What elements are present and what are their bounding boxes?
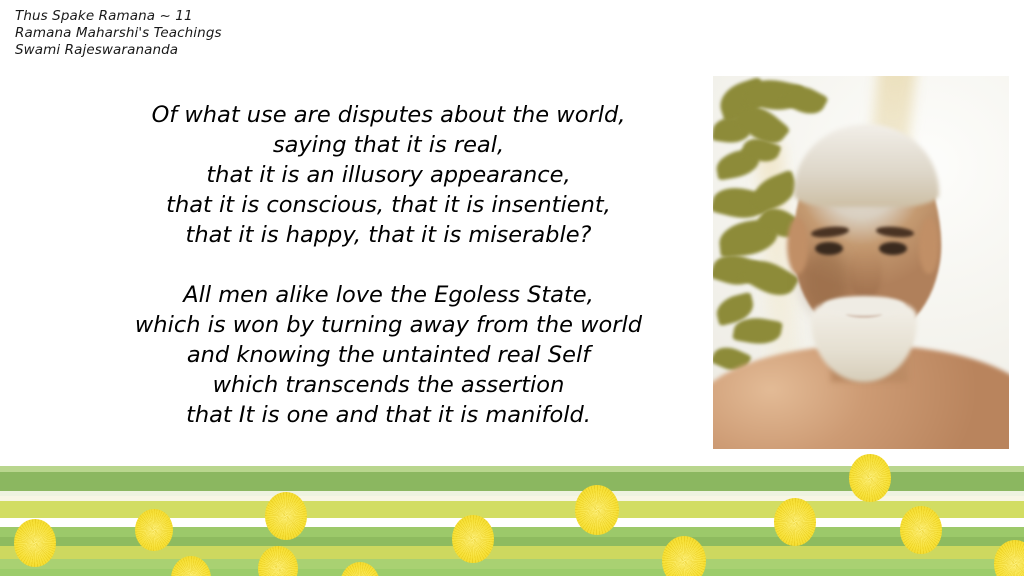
header-line-source: Ramana Maharshi's Teachings [15, 25, 222, 42]
band-flower-disc [774, 498, 816, 545]
band-flower-disc [135, 509, 173, 552]
band-flower-disc [849, 454, 891, 501]
photo-ear-right [919, 218, 940, 274]
quote-block: Of what use are disputes about the world… [96, 100, 681, 430]
band-flower-disc [575, 485, 619, 535]
band-flower-disc [900, 506, 942, 553]
quote-line: and knowing the untainted real Self [96, 340, 681, 370]
portrait-photo [713, 76, 1009, 449]
band-stripe [0, 569, 1024, 576]
quote-line: that It is one and that it is manifold. [96, 400, 681, 430]
band-flower-icon [774, 498, 816, 545]
band-flower-icon [849, 454, 891, 501]
band-flower-disc [452, 515, 494, 562]
quote-line: that it is happy, that it is miserable? [96, 220, 681, 250]
band-flower-disc [14, 519, 56, 566]
quote-line: that it is conscious, that it is insenti… [96, 190, 681, 220]
photo-ear-left [787, 218, 808, 274]
band-flower-icon [14, 519, 56, 566]
quote-line: which is won by turning away from the wo… [96, 310, 681, 340]
band-flower-icon [900, 506, 942, 553]
quote-line: Of what use are disputes about the world… [96, 100, 681, 130]
header-line-series: Thus Spake Ramana ~ 11 [15, 8, 222, 25]
band-flower-disc [265, 492, 307, 539]
band-flower-icon [135, 509, 173, 552]
quote-line: saying that it is real, [96, 130, 681, 160]
quote-stanza-1: Of what use are disputes about the world… [96, 100, 681, 250]
band-flower-icon [575, 485, 619, 535]
quote-stanza-2: All men alike love the Egoless State, wh… [96, 280, 681, 430]
band-stripe [0, 559, 1024, 569]
quote-line: which transcends the assertion [96, 370, 681, 400]
decorative-band [0, 454, 1024, 576]
band-flower-disc [662, 536, 706, 576]
band-flower-icon [662, 536, 706, 576]
slide-canvas: Thus Spake Ramana ~ 11 Ramana Maharshi's… [0, 0, 1024, 576]
header-line-author: Swami Rajeswarananda [15, 42, 222, 59]
photo-nose [849, 248, 882, 300]
band-flower-icon [265, 492, 307, 539]
header-attribution: Thus Spake Ramana ~ 11 Ramana Maharshi's… [15, 8, 222, 59]
band-flower-icon [452, 515, 494, 562]
quote-line: that it is an illusory appearance, [96, 160, 681, 190]
quote-line: All men alike love the Egoless State, [96, 280, 681, 310]
photo-moustache [823, 296, 906, 317]
